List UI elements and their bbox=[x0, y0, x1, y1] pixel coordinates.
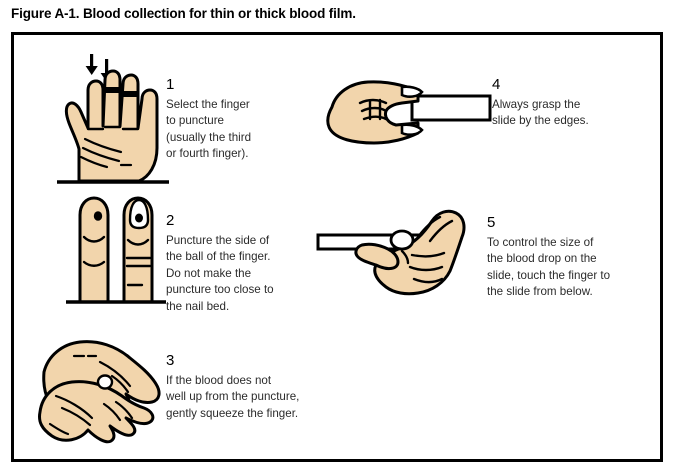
step-3-text-block: 3 If the blood does not well up from the… bbox=[166, 353, 356, 422]
puncture-dot-pad bbox=[94, 211, 102, 221]
blood-drop-highlight bbox=[391, 231, 413, 249]
step-1-text-block: 1 Select the finger to puncture (usually… bbox=[166, 77, 326, 163]
step-4-number: 4 bbox=[492, 77, 657, 93]
figure-frame: 1 Select the finger to puncture (usually… bbox=[11, 32, 663, 462]
finger-pad-outline bbox=[80, 198, 108, 302]
thumbnail-upper bbox=[402, 87, 422, 97]
page-title: Figure A-1. Blood collection for thin or… bbox=[11, 6, 356, 21]
blood-drop-highlight bbox=[98, 376, 112, 389]
puncture-dot-nailbed bbox=[135, 214, 143, 223]
two-fingers-puncture-site-illustration bbox=[62, 190, 172, 310]
step-4-body: Always grasp the slide by the edges. bbox=[492, 97, 657, 130]
hand-grasping-slide-illustration bbox=[324, 73, 494, 158]
step-5-body: To control the size of the blood drop on… bbox=[487, 235, 667, 301]
step-1-number: 1 bbox=[166, 77, 326, 93]
step-1-body: Select the finger to puncture (usually t… bbox=[166, 97, 326, 163]
step-2-text-block: 2 Puncture the side of the ball of the f… bbox=[166, 213, 336, 315]
hands-squeezing-finger-illustration bbox=[34, 330, 179, 455]
step-5-text-block: 5 To control the size of the blood drop … bbox=[487, 215, 667, 301]
down-arrow-icon-left bbox=[86, 54, 98, 75]
step-3-number: 3 bbox=[166, 353, 356, 369]
microscope-slide bbox=[412, 96, 490, 120]
step-2-body: Puncture the side of the ball of the fin… bbox=[166, 233, 336, 315]
step-3-body: If the blood does not well up from the p… bbox=[166, 373, 356, 422]
step-4-text-block: 4 Always grasp the slide by the edges. bbox=[492, 77, 657, 130]
open-hand-with-arrows-illustration bbox=[47, 53, 177, 188]
step-2-number: 2 bbox=[166, 213, 336, 229]
finger-touching-slide-from-below-illustration bbox=[314, 207, 489, 312]
step-5-number: 5 bbox=[487, 215, 667, 231]
